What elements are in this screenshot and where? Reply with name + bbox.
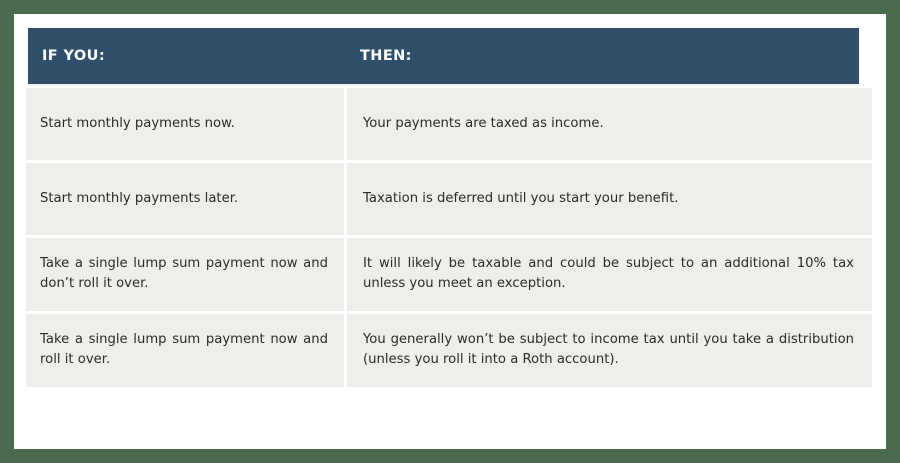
column-header-then: THEN:	[346, 28, 859, 84]
cell-text: Your payments are taxed as income.	[363, 114, 854, 134]
column-header-if-you: IF YOU:	[28, 28, 346, 84]
cell-text: Take a single lump sum payment now and r…	[40, 330, 328, 371]
table-header-row: IF YOU: THEN:	[28, 28, 859, 84]
table-cell-then: Taxation is deferred until you start you…	[347, 163, 872, 235]
green-outer-frame: IF YOU: THEN: Start monthly payments now…	[0, 0, 900, 463]
cell-text: Taxation is deferred until you start you…	[363, 189, 854, 209]
cell-text: Take a single lump sum payment now and d…	[40, 254, 328, 295]
cell-text: Start monthly payments now.	[40, 114, 328, 134]
table-cell-if-you: Start monthly payments now.	[26, 88, 344, 160]
card-surface: IF YOU: THEN: Start monthly payments now…	[14, 14, 886, 449]
table-row: Take a single lump sum payment now and d…	[26, 238, 872, 311]
table-cell-then: Your payments are taxed as income.	[347, 88, 872, 160]
table-body: Start monthly payments now. Your payment…	[26, 84, 872, 387]
table-row: Take a single lump sum payment now and r…	[26, 314, 872, 387]
table-row: Start monthly payments now. Your payment…	[26, 88, 872, 160]
cell-text: You generally won’t be subject to income…	[363, 330, 854, 371]
cell-text: Start monthly payments later.	[40, 189, 328, 209]
table-cell-if-you: Start monthly payments later.	[26, 163, 344, 235]
table-cell-then: It will likely be taxable and could be s…	[347, 238, 872, 311]
table-cell-if-you: Take a single lump sum payment now and d…	[26, 238, 344, 311]
if-you-then-table: IF YOU: THEN: Start monthly payments now…	[26, 28, 872, 449]
table-cell-then: You generally won’t be subject to income…	[347, 314, 872, 387]
table-cell-if-you: Take a single lump sum payment now and r…	[26, 314, 344, 387]
table-row: Start monthly payments later. Taxation i…	[26, 163, 872, 235]
cell-text: It will likely be taxable and could be s…	[363, 254, 854, 295]
